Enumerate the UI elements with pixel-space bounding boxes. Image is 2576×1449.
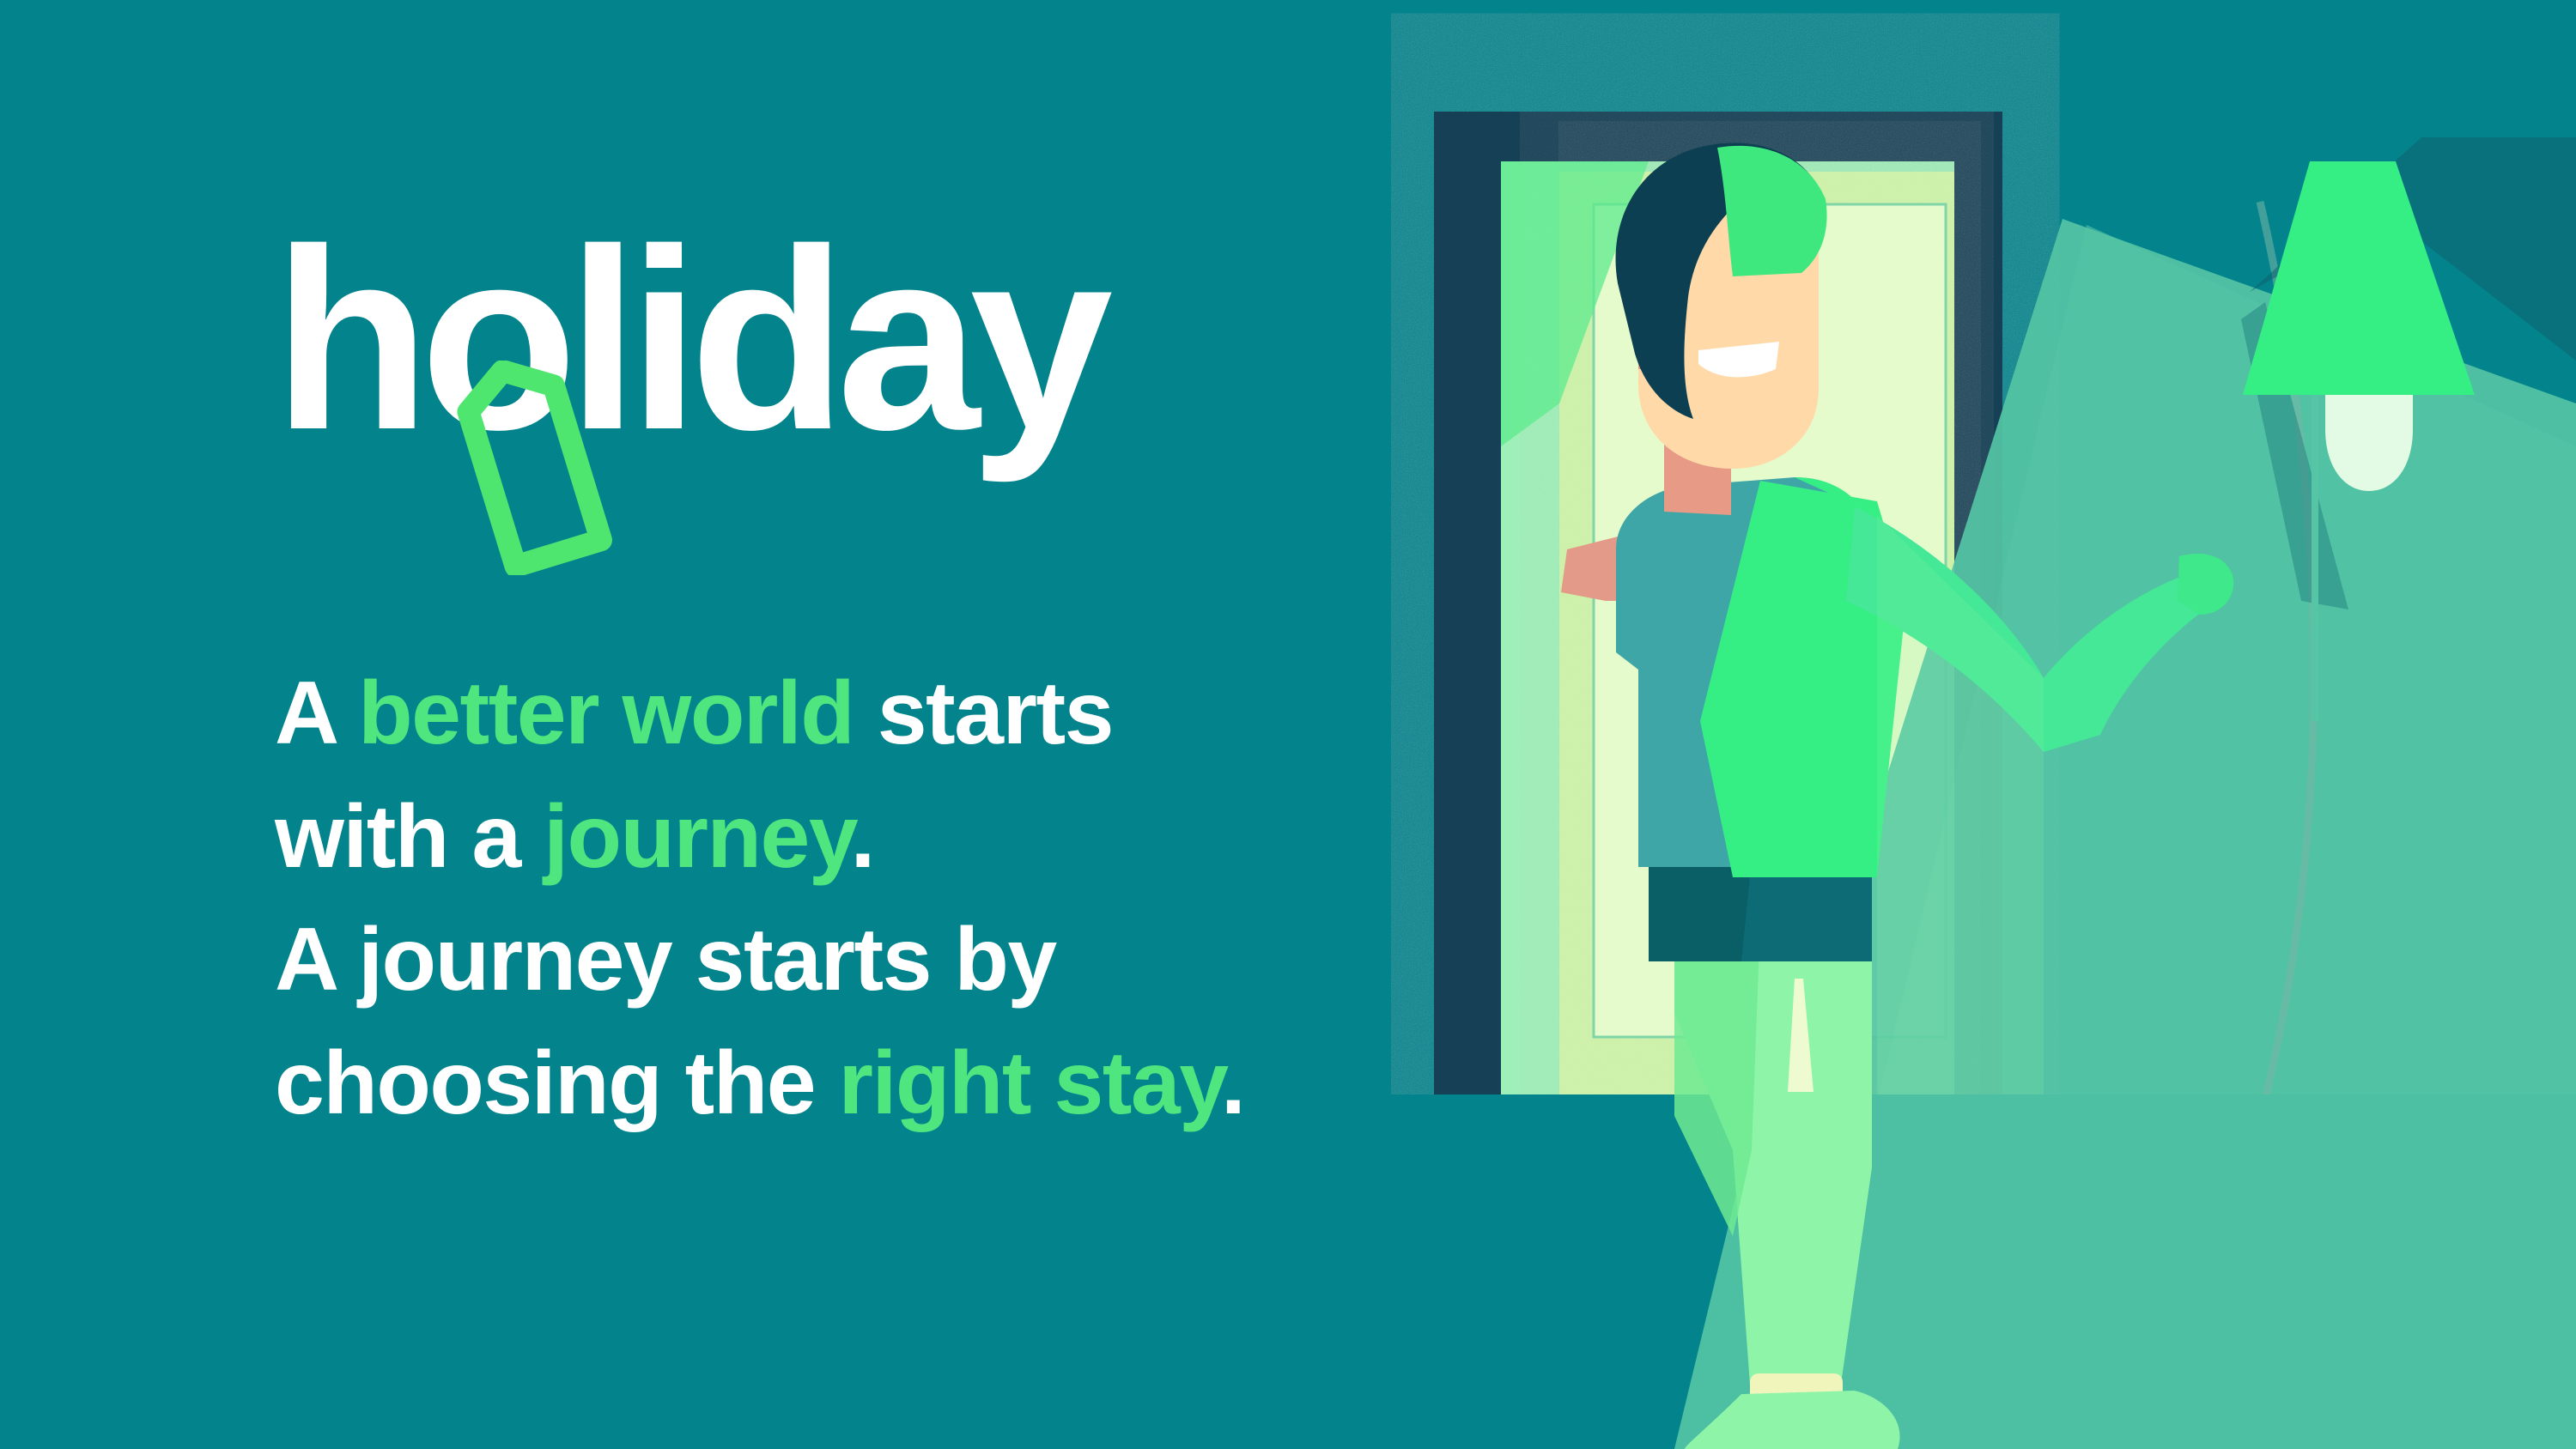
tagline-seg: choosing the	[275, 1034, 839, 1133]
tagline-line-4: choosing the right stay.	[275, 1022, 1408, 1146]
tagline-seg: with a	[275, 787, 544, 887]
tagline-line-2: with a journey.	[275, 776, 1408, 900]
tagline-seg-accent: better world	[358, 664, 854, 763]
brand-panel: holiday A better world starts with a jou…	[0, 0, 1460, 1449]
tagline-seg-accent: right stay	[839, 1034, 1221, 1133]
tagline: A better world starts with a journey. A …	[275, 652, 1408, 1145]
tagline-seg: .	[1221, 1034, 1244, 1133]
tagline-seg-accent: journey	[544, 787, 850, 887]
tagline-seg: .	[851, 787, 874, 887]
tagline-seg: A	[275, 664, 358, 763]
lamp-stem	[2312, 395, 2318, 721]
illustration-canvas	[1391, 0, 2576, 1449]
tagline-seg: starts	[854, 664, 1113, 763]
marketing-banner: holiday A better world starts with a jou…	[0, 0, 2576, 1449]
tagline-seg: A journey starts by	[275, 910, 1056, 1009]
person-leaning-in-doorway-illustration	[1391, 0, 2576, 1449]
brand-wordmark: holiday	[273, 210, 1103, 468]
tagline-line-3: A journey starts by	[275, 899, 1408, 1022]
brand-logo[interactable]: holiday	[273, 210, 1218, 571]
tagline-line-1: A better world starts	[275, 652, 1408, 776]
